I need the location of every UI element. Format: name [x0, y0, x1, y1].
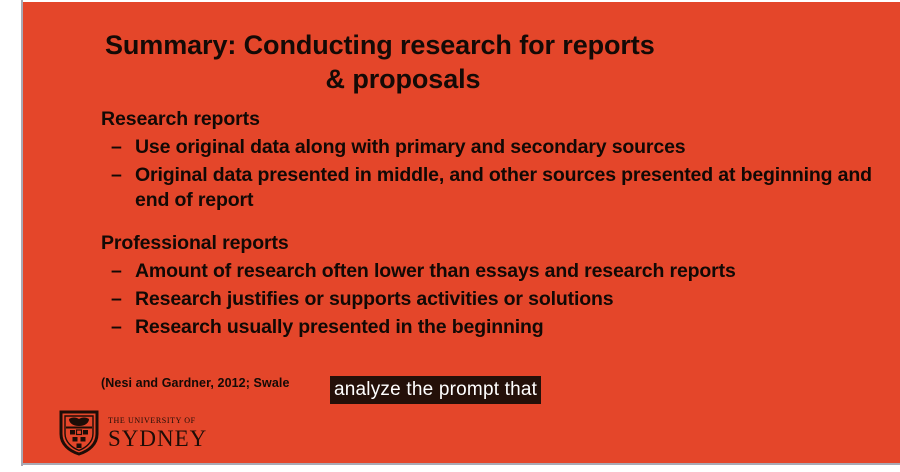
bullet-dash-icon: – — [111, 287, 122, 312]
list-item-label: Use original data along with primary and… — [135, 136, 685, 158]
video-frame: Summary: Conducting research for reports… — [0, 0, 900, 472]
subtitle-caption: analyze the prompt that — [330, 376, 541, 404]
list-item: – Original data presented in middle, and… — [101, 163, 891, 213]
list-item: – Use original data along with primary a… — [101, 135, 891, 160]
university-of-sydney-crest-icon — [59, 410, 99, 456]
university-logo: THE UNIVERSITY OF SYDNEY — [59, 410, 207, 456]
list-item-label: Amount of research often lower than essa… — [135, 260, 736, 282]
list-item-label: Research usually presented in the beginn… — [135, 316, 544, 338]
list-item: – Research usually presented in the begi… — [101, 315, 891, 340]
logo-sub-text: THE UNIVERSITY OF — [108, 417, 207, 425]
bullet-dash-icon: – — [111, 135, 122, 160]
page-title-line-2: & proposals — [83, 62, 843, 96]
logo-wordmark: THE UNIVERSITY OF SYDNEY — [108, 417, 207, 450]
list-item-label: Research justifies or supports activitie… — [135, 288, 613, 310]
section-research-reports: Research reports – Use original data alo… — [101, 108, 891, 213]
section-heading: Research reports — [101, 108, 891, 131]
bullet-list: – Amount of research often lower than es… — [101, 259, 891, 340]
page-title: Summary: Conducting research for reports… — [83, 28, 843, 96]
citation-text: (Nesi and Gardner, 2012; Swale — [101, 376, 290, 390]
section-heading: Professional reports — [101, 232, 891, 255]
slide-bottom-border — [21, 463, 900, 465]
page-title-line-1: Summary: Conducting research for reports — [83, 28, 843, 62]
bullet-dash-icon: – — [111, 315, 122, 340]
section-professional-reports: Professional reports – Amount of researc… — [101, 232, 891, 340]
list-item: – Research justifies or supports activit… — [101, 287, 891, 312]
bullet-dash-icon: – — [111, 259, 122, 284]
list-item: – Amount of research often lower than es… — [101, 259, 891, 284]
bullet-dash-icon: – — [111, 163, 122, 188]
bullet-list: – Use original data along with primary a… — [101, 135, 891, 213]
list-item-label: Original data presented in middle, and o… — [135, 164, 872, 211]
presentation-slide: Summary: Conducting research for reports… — [23, 2, 900, 463]
logo-main-text: SYDNEY — [108, 427, 207, 450]
